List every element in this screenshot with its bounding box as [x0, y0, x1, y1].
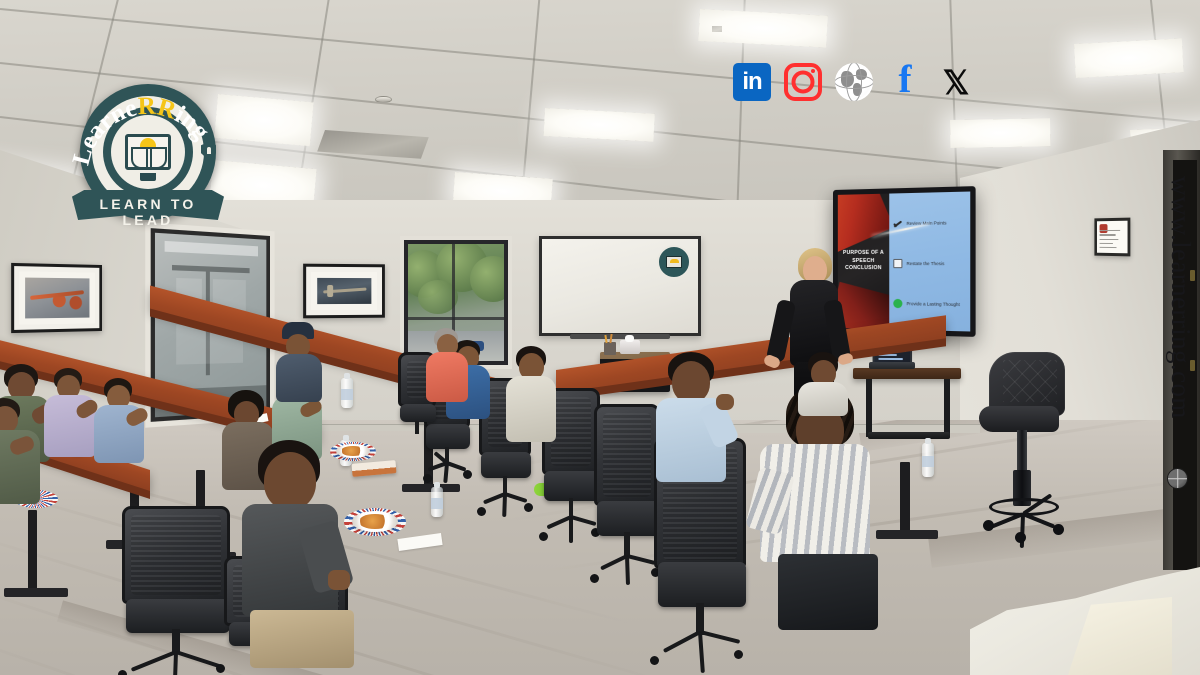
- presentation-slide: PURPOSE OF A SPEECH CONCLUSION Review Ma…: [838, 192, 970, 332]
- green-dot-icon: [893, 299, 902, 308]
- table-leg: [900, 462, 910, 536]
- ceiling-light-panel: [214, 94, 313, 146]
- smoke-detector-icon: [375, 96, 392, 103]
- globe-icon[interactable]: [835, 63, 873, 101]
- framed-certificate-right: [1094, 218, 1130, 257]
- facebook-icon[interactable]: [886, 63, 924, 101]
- table-leg: [28, 510, 37, 592]
- attendee: [508, 346, 562, 450]
- logo-tagline-text: LEARN TO LEAD: [72, 196, 224, 228]
- water-bottle: [922, 443, 934, 477]
- attendee: [756, 386, 882, 636]
- attendee: [798, 352, 854, 418]
- water-bottle: [431, 487, 443, 517]
- open-book-icon: [131, 147, 167, 165]
- framed-aircraft-photo-center: [303, 264, 385, 319]
- logo-tagline-banner: LEARN TO LEAD: [72, 182, 224, 226]
- attendee: [428, 328, 474, 404]
- learnerring-logo[interactable]: LearneRRing LEARN TO LEAD: [68, 78, 228, 233]
- logo-emblem-area: [111, 115, 185, 189]
- tissue-box: [620, 340, 640, 354]
- paper-plate-food: [352, 511, 398, 532]
- check-icon: [893, 219, 902, 228]
- photo-image: [25, 278, 89, 319]
- bullet-text: Provide a Lasting Thought: [906, 301, 959, 307]
- x-icon[interactable]: [937, 63, 975, 101]
- node-network-icon: [84, 140, 102, 162]
- ceiling-air-vent: [712, 26, 722, 32]
- table-foot: [4, 588, 68, 597]
- office-chair: [594, 404, 660, 580]
- document-icon: [893, 259, 902, 268]
- linkedin-icon[interactable]: [733, 63, 771, 101]
- attendee: [654, 352, 734, 492]
- slide-bullet-panel: Review Main Points Restate the Thesis Pr…: [889, 192, 970, 332]
- whiteboard-logo-icon: [657, 245, 691, 279]
- desk-leg: [944, 379, 950, 435]
- laptop-keyboard: [869, 362, 915, 369]
- attendee: [96, 378, 154, 470]
- attendee-foreground: [232, 440, 354, 675]
- screenshot-canvas: PURPOSE OF A SPEECH CONCLUSION Review Ma…: [0, 0, 1200, 675]
- photo-image: [317, 278, 371, 304]
- marker-tray: [570, 334, 670, 339]
- framed-aircraft-photo-left: [11, 263, 102, 333]
- attendee-with-cap: [278, 322, 328, 404]
- table-foot: [876, 530, 938, 539]
- ceiling-light-panel: [950, 118, 1050, 148]
- pencil-cup: [604, 342, 616, 355]
- whiteboard: [539, 236, 701, 336]
- drafting-stool: [975, 352, 1067, 544]
- website-url[interactable]: www.learnerring.com: [1165, 176, 1196, 419]
- slide-bullet-2: Restate the Thesis: [893, 259, 965, 268]
- monitor-icon: [125, 134, 171, 170]
- slide-bullet-3: Provide a Lasting Thought: [893, 299, 965, 309]
- standing-desk-top: [853, 368, 961, 379]
- globe-icon: [1167, 468, 1188, 489]
- water-bottle: [341, 378, 353, 408]
- office-chair: [122, 506, 230, 675]
- ceiling-light-panel: [1074, 38, 1184, 78]
- certificate-seal-icon: [1099, 224, 1107, 233]
- wall-mounted-tv: PURPOSE OF A SPEECH CONCLUSION Review Ma…: [833, 186, 976, 337]
- ceiling-light-panel: [544, 108, 655, 142]
- instagram-icon[interactable]: [784, 63, 822, 101]
- bullet-text: Restate the Thesis: [906, 261, 944, 267]
- social-icon-bar: [733, 60, 975, 104]
